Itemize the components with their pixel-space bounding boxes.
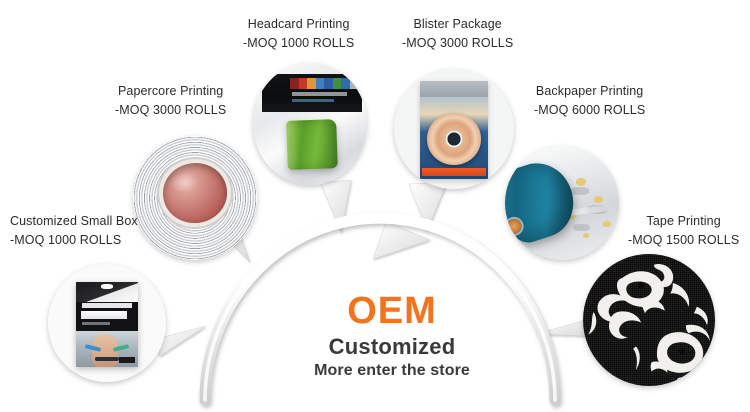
papercore-red-core — [160, 160, 230, 226]
callout-moq: -MOQ 1000 ROLLS — [243, 34, 354, 53]
backpaper-teal-roll-photo — [505, 146, 619, 260]
bubble-tape-printing[interactable] — [583, 254, 715, 386]
headcard-green-tape-photo — [253, 63, 367, 185]
callout-title: Customized Small Box — [10, 212, 138, 231]
headcard-printed-card — [262, 74, 362, 112]
carton-subtext-bar — [82, 322, 110, 325]
callout-moq: -MOQ 1000 ROLLS — [10, 231, 138, 250]
center-headline-block: OEM Customized More enter the store — [272, 292, 512, 379]
oem-services-infographic: Papercore Printing -MOQ 3000 ROLLS Headc… — [0, 0, 750, 412]
callout-title: Backpaper Printing — [534, 82, 645, 101]
green-tape-roll — [286, 119, 338, 170]
callout-title: Blister Package — [402, 15, 513, 34]
dragon-printed-tape-photo — [583, 254, 715, 386]
connector-tail-backpaper — [373, 222, 430, 259]
callout-label-customized-small-box: Customized Small Box -MOQ 1000 ROLLS — [10, 212, 138, 250]
carton-brand-bar — [81, 311, 126, 319]
oem-headline: OEM — [272, 292, 512, 330]
callout-label-backpaper-printing: Backpaper Printing -MOQ 6000 ROLLS — [534, 82, 645, 120]
callout-label-tape-printing: Tape Printing -MOQ 1500 ROLLS — [628, 212, 739, 250]
dragon-motif — [583, 254, 715, 386]
retail-carton — [76, 282, 137, 367]
callout-title: Tape Printing — [628, 212, 739, 231]
blister-backing-card — [420, 81, 487, 179]
carton-tagline-bar — [82, 303, 131, 308]
connector-tail-blister — [409, 182, 447, 231]
callout-label-papercore-printing: Papercore Printing -MOQ 3000 ROLLS — [115, 82, 226, 120]
carton-photo-panel — [76, 331, 137, 367]
callout-moq: -MOQ 1500 ROLLS — [628, 231, 739, 250]
card-text-line — [292, 99, 334, 102]
callout-label-headcard-printing: Headcard Printing -MOQ 1000 ROLLS — [243, 15, 354, 53]
beige-tape-roll — [427, 113, 481, 164]
bubble-backpaper-printing[interactable] — [505, 146, 619, 260]
carton-hang-tab — [76, 282, 137, 302]
bubble-customized-small-box[interactable] — [48, 264, 166, 382]
card-text-line — [292, 92, 347, 95]
blister-footer-strip — [422, 168, 487, 177]
blister-pack-beige-roll-photo — [394, 69, 514, 189]
tape-strip-dark — [95, 357, 120, 361]
small-box-carton-photo — [48, 264, 166, 382]
customized-subhead: Customized — [272, 336, 512, 358]
color-swatch-strip — [290, 78, 358, 89]
carton-front-panel — [76, 302, 137, 331]
connector-tail-headcard — [321, 180, 351, 233]
callout-title: Papercore Printing — [115, 82, 226, 101]
callout-label-blister-package: Blister Package -MOQ 3000 ROLLS — [402, 15, 513, 53]
store-tagline: More enter the store — [272, 363, 512, 379]
callout-moq: -MOQ 3000 ROLLS — [402, 34, 513, 53]
blister-header-strip — [420, 81, 487, 97]
bubble-papercore-printing[interactable] — [133, 136, 257, 260]
callout-moq: -MOQ 3000 ROLLS — [115, 101, 226, 120]
papercore-roll-photo — [133, 136, 257, 260]
callout-moq: -MOQ 6000 ROLLS — [534, 101, 645, 120]
bubble-blister-package[interactable] — [394, 69, 514, 189]
bubble-headcard-printing[interactable] — [253, 63, 367, 185]
callout-title: Headcard Printing — [243, 15, 354, 34]
carton-badge — [119, 357, 135, 363]
